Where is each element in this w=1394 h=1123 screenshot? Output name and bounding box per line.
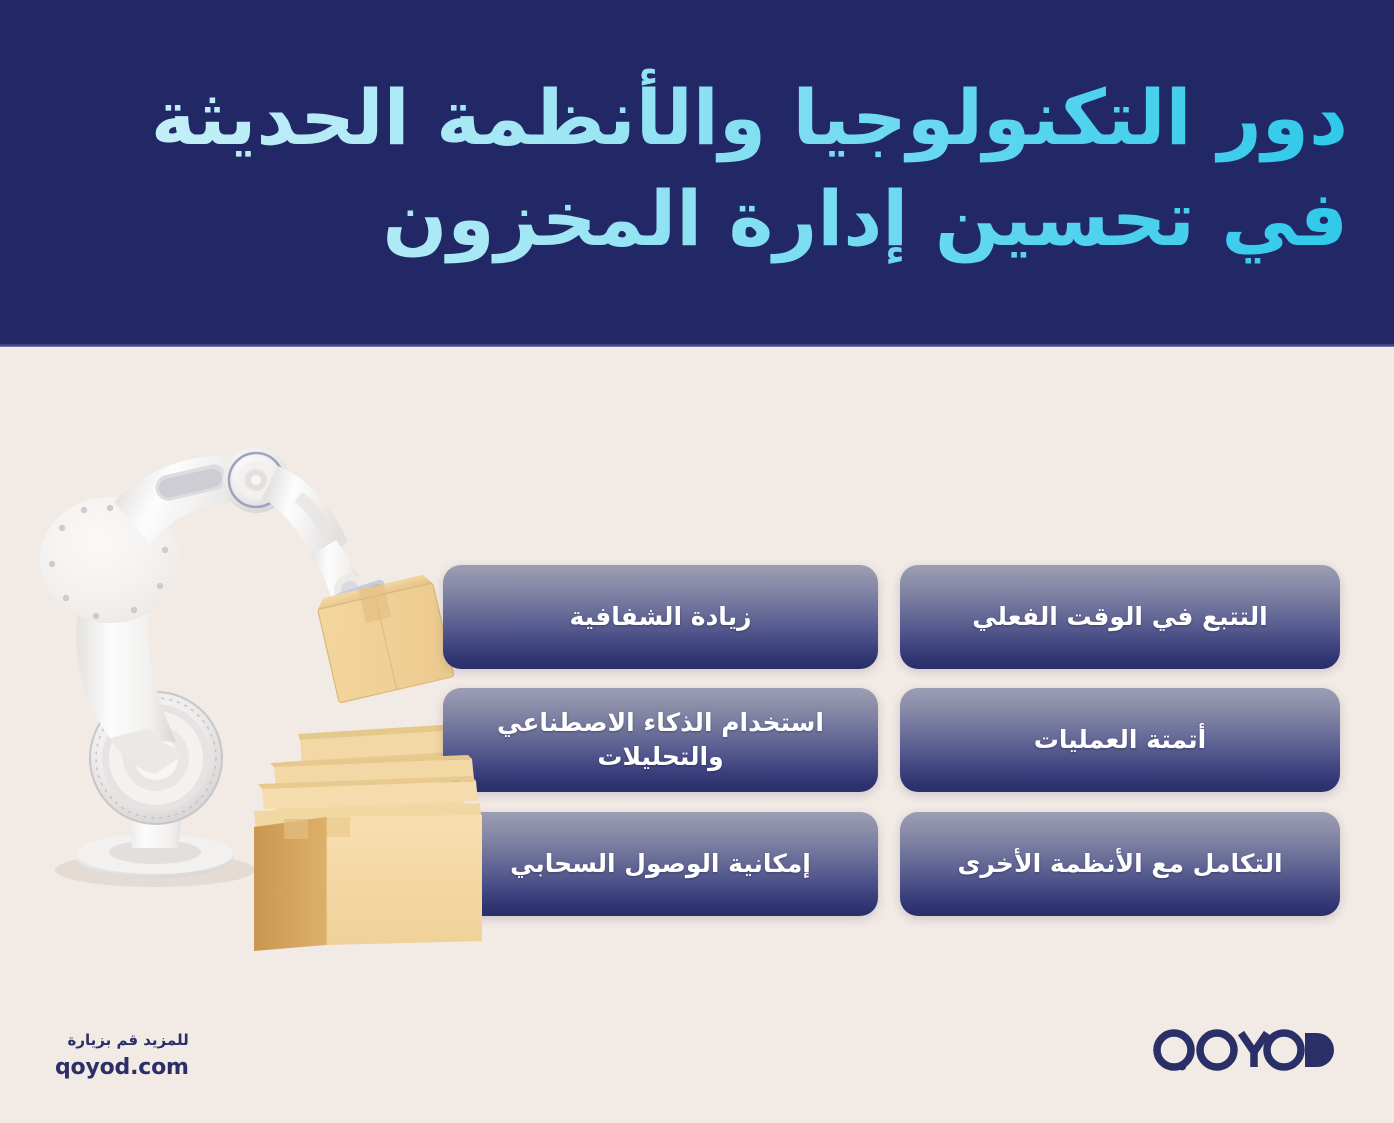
feature-card-increased-transparency[interactable]: زيادة الشفافية [443, 565, 878, 669]
feature-card-label: التكامل مع الأنظمة الأخرى [918, 847, 1322, 881]
qoyod-logo [1149, 1028, 1339, 1076]
infographic-page: دور التكنولوجيا والأنظمة الحديثة في تحسي… [0, 0, 1394, 1123]
footer-cta-text: للمزيد قم بزيارة [55, 1030, 189, 1052]
feature-card-process-automation[interactable]: أتمتة العمليات [900, 688, 1340, 792]
feature-card-real-time-tracking[interactable]: التتبع في الوقت الفعلي [900, 565, 1340, 669]
feature-card-label: إمكانية الوصول السحابي [461, 847, 860, 881]
feature-card-system-integration[interactable]: التكامل مع الأنظمة الأخرى [900, 812, 1340, 916]
feature-card-label: استخدام الذكاء الاصطناعي والتحليلات [461, 706, 860, 774]
footer-website-url[interactable]: qoyod.com [55, 1052, 189, 1084]
feature-card-label: أتمتة العمليات [918, 723, 1322, 757]
footer-cta: للمزيد قم بزيارة qoyod.com [55, 1030, 189, 1084]
feature-cards: التتبع في الوقت الفعلي أتمتة العمليات ال… [0, 0, 1394, 1123]
feature-card-label: زيادة الشفافية [461, 600, 860, 634]
feature-card-ai-and-analytics[interactable]: استخدام الذكاء الاصطناعي والتحليلات [443, 688, 878, 792]
feature-card-label: التتبع في الوقت الفعلي [918, 600, 1322, 634]
feature-card-cloud-access[interactable]: إمكانية الوصول السحابي [443, 812, 878, 916]
